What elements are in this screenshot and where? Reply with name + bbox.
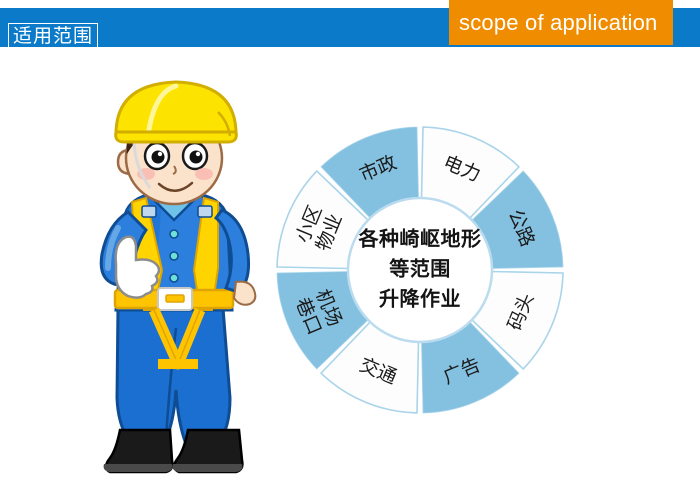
worker-legs-and-boots (104, 308, 243, 472)
scope-donut-chart: 各种崎岖地形等范围升降作业 电力公路码头广告交通机场巷口小区物业市政 (270, 112, 570, 432)
slide-canvas: 适用范围 scope of application (0, 0, 700, 494)
worker-hard-hat (116, 82, 237, 142)
donut-center-line-2: 等范围 (389, 257, 451, 281)
donut-center-line-1: 各种崎岖地形 (358, 227, 482, 251)
page-title: 适用范围 (8, 23, 98, 50)
worker-illustration (58, 78, 288, 478)
header-badge-label: scope of application (459, 9, 669, 37)
donut-center-line-3: 升降作业 (379, 287, 461, 311)
